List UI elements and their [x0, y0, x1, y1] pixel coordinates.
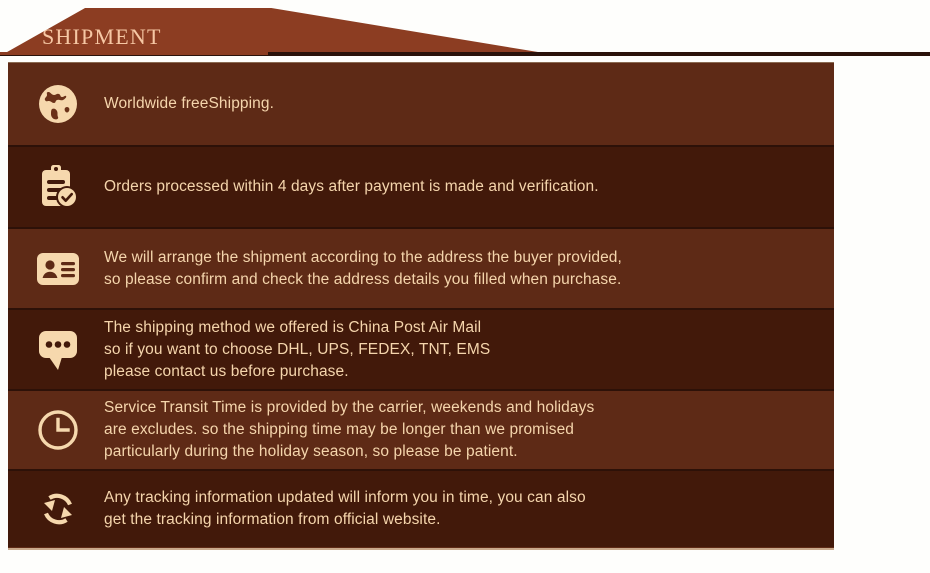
speech-bubble-icon — [26, 310, 90, 389]
shipment-row-text: Worldwide freeShipping. — [90, 93, 834, 115]
page-title: SHIPMENT — [42, 24, 162, 50]
shipment-rows-panel: Worldwide freeShipping. Orders — [8, 62, 834, 550]
shipment-row-shipping-method: The shipping method we offered is China … — [8, 310, 834, 391]
header-banner: SHIPMENT — [0, 8, 810, 56]
shipment-info-graphic: SHIPMENT Worldwide freeShipping. — [0, 0, 930, 573]
shipment-row-text: Orders processed within 4 days after pay… — [90, 176, 834, 198]
shipment-row-tracking: Any tracking information updated will in… — [8, 471, 834, 547]
shipment-row-text: Any tracking information updated will in… — [90, 487, 834, 531]
shipment-row-transit-time: Service Transit Time is provided by the … — [8, 391, 834, 471]
shipment-row-text: We will arrange the shipment according t… — [90, 247, 834, 291]
shipment-row-worldwide: Worldwide freeShipping. — [8, 63, 834, 147]
shipment-row-address: We will arrange the shipment according t… — [8, 229, 834, 310]
id-card-icon — [26, 229, 90, 308]
shipment-row-processing-time: Orders processed within 4 days after pay… — [8, 147, 834, 229]
refresh-arrows-icon — [26, 471, 90, 547]
shipment-row-text: The shipping method we offered is China … — [90, 317, 834, 383]
clock-icon — [26, 391, 90, 469]
globe-icon — [26, 63, 90, 145]
header-divider-accent — [0, 52, 268, 55]
clipboard-check-icon — [26, 147, 90, 227]
shipment-row-text: Service Transit Time is provided by the … — [90, 397, 834, 463]
